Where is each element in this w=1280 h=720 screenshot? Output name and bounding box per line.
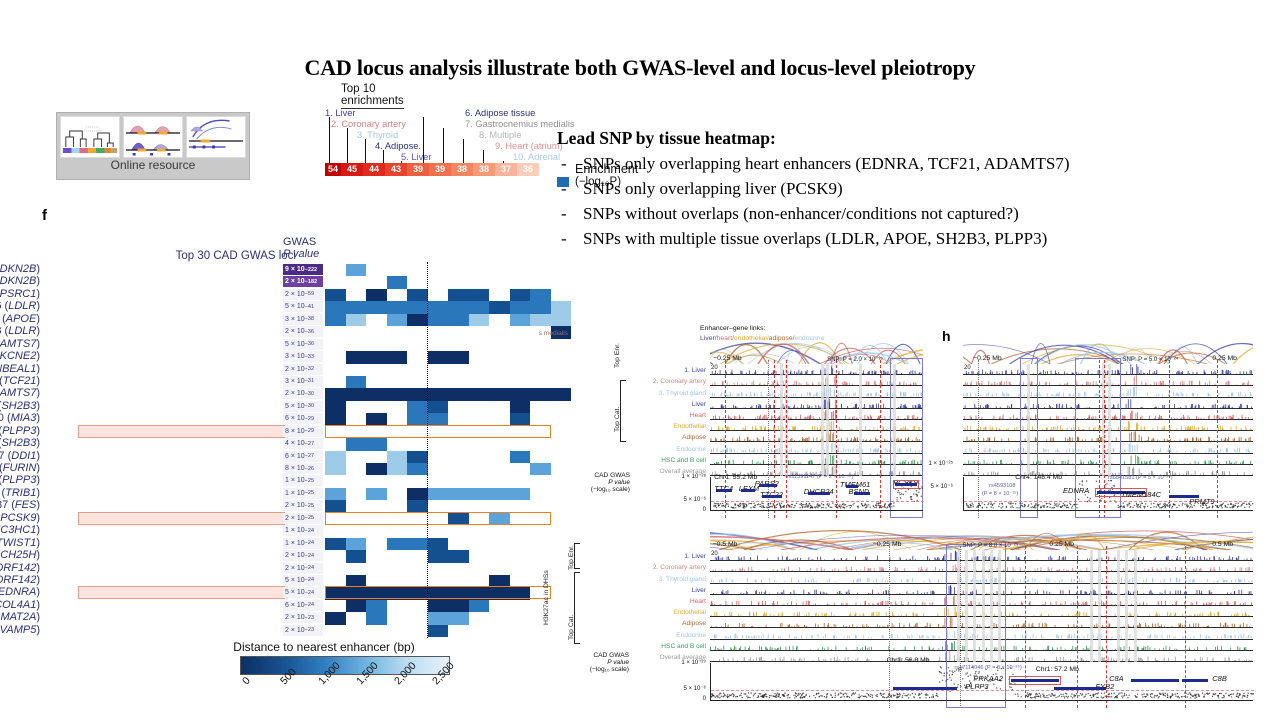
heatmap-cell: [407, 401, 428, 413]
cad-gwas-label-g1: CAD GWASP value(−log₁₀ scale): [560, 472, 630, 493]
heatmap-cell: [510, 289, 531, 301]
enrichment-name-list: 1. Liver2. Coronary artery3. Thyroid4. A…: [317, 102, 583, 162]
heatmap-cell: [325, 289, 346, 301]
enrichment-name-3: 3. Thyroid: [357, 130, 398, 140]
heatmap-pvalue-cell: 2 × 10−23: [283, 625, 323, 636]
heatmap-cell: [325, 451, 346, 463]
heatmap-cell: [325, 401, 346, 413]
heatmap-cell: [530, 463, 551, 475]
bullet-text: SNPs only overlapping heart enhancers (E…: [583, 154, 1070, 173]
heatmap-pvalue-cell: 3 × 10−33: [283, 351, 323, 362]
heatmap-cell-row: [325, 438, 571, 450]
heatmap-row-label: Chr7: 19,049,388 (TWIST1): [0, 537, 40, 549]
heatmap-cell: [428, 625, 449, 637]
bullet-item: -SNPs only overlapping liver (PCSK9): [557, 176, 1257, 201]
heatmap-cell-row: [325, 612, 571, 624]
heatmap-cell: [366, 600, 387, 612]
enhancer-shade: [780, 364, 783, 476]
link-tissue-heart: heart/: [717, 335, 734, 342]
heatmap-row-label: Chr13: 111,049,623 (COL4A1): [0, 599, 40, 611]
track-scale-max: 20: [711, 365, 718, 371]
ednra-ytick-2: 5 × 10⁻⁶: [905, 483, 953, 490]
heatmap-cell: [387, 463, 408, 475]
row-highlight: [78, 512, 285, 525]
heatmap-pvalue-cell: 3 × 10−38: [283, 314, 323, 325]
heatmap-row-label: Chr19: 11,202,306 (LDLR): [0, 300, 40, 312]
heatmap-pvalue-cell: 8 × 10−29: [283, 426, 323, 437]
rs-id-label: rs4593108: [989, 483, 1015, 489]
heatmap-cell: [346, 351, 408, 363]
enhancer-links-tissues: Liver/heart/endothelial/adipose/endocrin…: [700, 335, 824, 342]
gene-label-tmem184c: TMEM184C: [1121, 490, 1161, 499]
heatmap-row-label: Chr1: 56,966,350 (PLPP3): [0, 425, 40, 437]
bullet-dash: -: [561, 201, 567, 226]
mb-coordinate-label: −0.25 Mb: [973, 355, 1002, 362]
locus-center-coordinate: Chr1: 56.8 Mb: [886, 657, 929, 664]
rs-id-label: rs6841581 (P = 5 × 10⁻²⁴): [1108, 475, 1173, 481]
thumbnail-panes: [60, 116, 246, 158]
heatmap-loci-header: Top 30 CAD GWAS loci: [96, 250, 296, 262]
heatmap-pvalue-cell: 5 × 10−30: [283, 401, 323, 412]
snp-pvalue-label: SNP: P = 8.0 × 10⁻²⁹: [962, 542, 1018, 549]
heatmap-cell: [407, 488, 428, 500]
heatmap-row-label: Chr1: 56,996,191 (PLPP3): [0, 474, 40, 486]
gwas-header-line1: GWAS: [283, 236, 327, 248]
heatmap-row-label: Chr15: 91,416,550 (FURIN): [0, 462, 40, 474]
enrichment-name-2: 2. Coronary artery: [331, 119, 406, 129]
heatmap-pvalue-cell: 2 × 10−24: [283, 563, 323, 574]
heatmap-row-label: Chr7: 129,663,496 (ZC3HC1): [0, 524, 40, 536]
heatmap-cell-row: [325, 538, 571, 550]
track-label-endothelial: Endothelial: [630, 609, 706, 616]
mb-coordinate-label: −0.25 Mb: [873, 541, 902, 548]
track-label-liver: Liver: [630, 401, 706, 408]
enrichment-value: 36: [517, 163, 539, 176]
enrichment-value: 39: [407, 163, 429, 176]
heatmap-cell: [346, 550, 367, 562]
enrichment-tick: [443, 128, 444, 163]
track-scale-max: 20: [964, 365, 971, 371]
heatmap-cell: [346, 314, 367, 326]
heatmap-cell: [346, 538, 367, 550]
gene-model: [808, 492, 830, 495]
top-cat-bracket: [620, 380, 626, 442]
enrichment-name-4: 4. Adipose.: [375, 141, 421, 151]
right-text-block: Lead SNP by tissue heatmap: -SNPs only o…: [557, 128, 1257, 251]
enrichment-value: 54: [325, 163, 341, 176]
heatmap-pvalue-cell: 2 × 10−36: [283, 326, 323, 337]
heatmap-cell: [428, 314, 449, 326]
gene-model: [1131, 679, 1179, 682]
heatmap-cell: [325, 538, 346, 550]
gene-model-outline: [1009, 676, 1061, 685]
heatmap-cell-row: [325, 475, 571, 487]
heatmap-center-dashed-line: [427, 262, 428, 638]
enrichment-tick: [347, 128, 348, 163]
enhancer-shade: [1125, 550, 1128, 662]
enrichment-value: 45: [341, 163, 363, 176]
enrichment-name-9: 9. Heart (atrium): [495, 141, 563, 151]
gene-model: [854, 492, 870, 495]
right-text-heading: Lead SNP by tissue heatmap:: [557, 128, 1257, 149]
enrichment-tick: [365, 139, 366, 163]
enrichment-name-6: 6. Adipose tissue: [465, 108, 535, 118]
link-tissue-endocrine: endocrine: [795, 335, 825, 342]
bullet-text: SNPs only overlapping liver (PCSK9): [583, 179, 843, 198]
gastrocnemius-label-fragment: s medialis: [528, 330, 568, 337]
gene-label-plpp3: PLPP3: [965, 682, 988, 691]
heatmap-cell: [325, 314, 346, 326]
heatmap-cell: [346, 376, 367, 388]
heatmap-row-label: Chr10: 91,004,886 (CH25H): [0, 549, 40, 561]
heatmap-cell: [428, 538, 449, 550]
locus-panel-pcsk9: 1. Liver2. Coronary artery3. Thyroid gla…: [630, 340, 925, 510]
heatmap-cell-row: [325, 264, 571, 276]
heatmap-cell: [387, 538, 428, 550]
bullet-item: -SNPs only overlapping heart enhancers (…: [557, 151, 1257, 176]
cad-gwas-label-g2: CAD GWASP value(−log₁₀ scale): [545, 652, 629, 673]
heatmap-cell: [510, 401, 531, 413]
enrichment-name-8: 8. Multiple: [479, 130, 521, 140]
enrichment-name-10: 10. Adrenal: [513, 152, 560, 162]
enrichment-value: 43: [385, 163, 407, 176]
enrichment-value: 38: [473, 163, 495, 176]
gwas-ytick: 0: [630, 696, 706, 702]
enrichment-value: 44: [363, 163, 385, 176]
heatmap-cell-row: [325, 276, 571, 288]
colorbar-ticks: 05001,0001,5002,0002,500: [240, 675, 490, 715]
heatmap-row-label: Chr2: 203,968,973 (NBEAL1): [0, 363, 40, 375]
heatmap-cell-row: [325, 351, 571, 363]
colorbar-gradient: [240, 656, 450, 675]
enhancer-links-title: Enhancer–gene links:: [700, 325, 765, 332]
gwas-ytick: 1 × 10⁻²⁸: [630, 473, 706, 480]
heatmap-pvalue-cell: 1 × 10−25: [283, 475, 323, 486]
slide-root: CAD locus analysis illustrate both GWAS-…: [0, 0, 1280, 720]
heatmap-cell: [428, 612, 469, 624]
heatmap-row-label: Chr1: 55,505,647 (PCSK9): [0, 512, 40, 524]
heatmap-row-label: Chr10: 44,777,560 (C10ORF142): [0, 562, 40, 574]
gene-model: [1054, 687, 1106, 690]
heatmap-cell: [551, 301, 572, 313]
gene-label-ednra: EDNRA: [1063, 486, 1089, 495]
enhancer-shade: [1117, 550, 1120, 662]
link-tissue-endothelial: endothelial/: [734, 335, 769, 342]
track-label-1-liver: 1. Liver: [630, 553, 706, 560]
heatmap-row-label: Chr1: 222,829,550 (MIA3): [0, 412, 40, 424]
heatmap-pvalue-cell: 2 × 10−30: [283, 388, 323, 399]
heatmap-cell-row: [325, 451, 571, 463]
row-highlight: [78, 586, 285, 599]
heatmap-cell: [530, 314, 571, 326]
heatmap-pvalue-cell: 1 × 10−24: [283, 538, 323, 549]
track-label-endocrine: Endocrine: [630, 632, 706, 639]
thumbnail-pane-enhancer-peaks: [123, 116, 183, 158]
snp-pvalue-label: SNP: P = 2.0 × 10⁻²⁵: [827, 356, 883, 363]
heatmap-cell-row: [325, 388, 571, 400]
bullet-item: -SNPs without overlaps (non-enhancer/con…: [557, 201, 1257, 226]
heatmap-row-label: Chr9: 22,125,503 (CDKN2B): [0, 275, 40, 287]
track-label-heart: Heart: [630, 412, 706, 419]
top-enr-bracket-bottom: [574, 543, 580, 569]
heatmap-cell-row: [325, 463, 571, 475]
heatmap-row-label: Chr8: 126,490,972 (TRIB1): [0, 487, 40, 499]
heatmap-row-label: Chr6: 134,209,837 (TCF21): [0, 375, 40, 387]
row-orange-outline: [325, 586, 551, 599]
bullet-text: SNPs with multiple tissue overlaps (LDLR…: [583, 229, 1047, 248]
heatmap-pvalue-cell: 1 × 10−24: [283, 525, 323, 536]
heatmap-pvalue-cell: 2 × 10−25: [283, 513, 323, 524]
gene-label-c8b: C8B: [1212, 674, 1227, 683]
enhancer-shade: [859, 364, 862, 476]
mb-coordinate-label: 0.5 Mb: [1212, 541, 1233, 548]
heatmap-cell-row: [325, 600, 571, 612]
heatmap-cell: [325, 388, 571, 400]
page-title: CAD locus analysis illustrate both GWAS-…: [0, 55, 1280, 81]
heatmap-row-label: Chr1: 109,821,511 (PSRC1): [0, 288, 40, 300]
track-label-endothelial: Endothelial: [630, 423, 706, 430]
heatmap-cell: [428, 351, 469, 363]
track-label-hsc-and-b-cell: HSC and B cell: [630, 457, 706, 464]
heatmap-cell-row: [325, 376, 571, 388]
heatmap-cell-row: [325, 550, 571, 562]
heatmap-cell: [366, 289, 387, 301]
track-label-3-thyroid-gland: 3. Thyroid gland: [630, 390, 706, 397]
heatmap-cell-row: [325, 625, 571, 637]
mb-coordinate-label: −0.5 Mb: [713, 541, 738, 548]
heatmap-cell: [510, 451, 531, 463]
heatmap-pvalue-cell: 5 × 10−36: [283, 339, 323, 350]
heatmap-cell: [407, 314, 428, 326]
track-label-2-coronary-artery: 2. Coronary artery: [630, 564, 706, 571]
enhancer-shade: [1134, 550, 1137, 662]
locus-center-coordinate: Chr1: 57.2 Mb: [1036, 666, 1079, 673]
heatmap-pvalue-cell: 1 × 10−25: [283, 488, 323, 499]
heatmap-cell: [448, 314, 469, 326]
heatmap-cell: [325, 463, 346, 475]
heatmap-cell: [407, 289, 428, 301]
heatmap-cell-row: [325, 364, 571, 376]
heatmap-row-label: Chr21: 35,593,827 (KCNE2): [0, 350, 40, 362]
h3k27ac-axis-label: H3K27ac in DHSs: [543, 570, 550, 625]
enrichment-value: 37: [495, 163, 517, 176]
heatmap-row-label: Chr12: 111,932,800 (SH2B3): [0, 437, 40, 449]
heatmap-cell-row: [325, 563, 571, 575]
enrichment-tick: [463, 139, 464, 163]
gwas-ytick: 5 × 10⁻⁶: [630, 496, 706, 503]
heatmap-pvalue-cell: 3 × 10−31: [283, 376, 323, 387]
enrichment-value: 39: [429, 163, 451, 176]
heatmap-cell-row: [325, 401, 571, 413]
online-resource-thumbnail: Online resource: [56, 112, 250, 180]
enhancer-shade: [826, 364, 829, 476]
heatmap-pvalue-cell: 9 × 10−222: [283, 264, 323, 275]
heatmap-cell: [387, 314, 408, 326]
panel-f-label: f: [42, 207, 47, 224]
track-label-liver: Liver: [630, 587, 706, 594]
thumbnail-pane-arcs: [186, 116, 246, 158]
gene-model: [759, 484, 777, 487]
heatmap-cell: [428, 550, 469, 562]
heatmap-cell-row: [325, 314, 571, 326]
bullet-dash: -: [561, 226, 567, 251]
heatmap-cell: [366, 612, 387, 624]
heatmap-pvalue-cell: 5 × 10−24: [283, 575, 323, 586]
heatmap-cell-row: [325, 289, 571, 301]
heatmap-pvalue-cell: 4 × 10−27: [283, 438, 323, 449]
top-enr-group-label-top: Top Enr.: [614, 343, 621, 368]
locus-panel-ednra: −0.25 Mb0.25 MbSNP: P = 5.0 × 10⁻²⁴20 ED…: [955, 340, 1255, 510]
heatmap-cell: [489, 301, 510, 313]
snp-pvalue-label: SNP: P = 5.0 × 10⁻²⁴: [1123, 356, 1179, 363]
gene-label-prmt9: PRMT9: [1189, 497, 1214, 506]
heatmap-cell: [325, 612, 346, 624]
gwas-ytick: 0: [630, 507, 706, 513]
heatmap-cell-row: [325, 525, 571, 537]
heatmap-row-label: Chr19: 11,188,153 (LDLR): [0, 325, 40, 337]
top-cat-bracket-bottom: [574, 572, 580, 644]
enrichment-tick: [383, 150, 384, 163]
enhancer-shade: [821, 364, 824, 476]
heatmap-cell: [346, 264, 367, 276]
bullet-text: SNPs without overlaps (non-enhancer/cond…: [583, 204, 1019, 223]
heatmap-pvalue-cell: 2 × 10−23: [283, 612, 323, 623]
heatmap-cell: [407, 463, 428, 475]
heatmap-pvalue-cell: 2 × 10−182: [283, 276, 323, 287]
track-label-heart: Heart: [630, 598, 706, 605]
heatmap-row-label: Chr19: 45,412,079 (APOE): [0, 313, 40, 325]
gwas-ytick: 1 × 10⁻²⁹: [630, 659, 706, 666]
enhancer-shade: [1090, 550, 1093, 662]
enrichment-value-bar: 54454443393938383736: [325, 163, 539, 176]
bullet-dash: -: [561, 176, 567, 201]
track-label-3-thyroid-gland: 3. Thyroid gland: [630, 576, 706, 583]
row-highlight: [78, 425, 285, 438]
locus-center-coordinate: Chr4: 148.4 Mb: [1015, 474, 1062, 481]
heatmap-row-label: Chr2: 85,763,520 (MAT2A): [0, 611, 40, 623]
rs-id-label: rs17114046 (P = 8 × 10⁻²⁹): [954, 665, 1021, 671]
heatmap-cell: [448, 289, 489, 301]
heatmap-row-label: Chr9: 22,098,574 (CDKN2B): [0, 263, 40, 275]
heatmap-cell: [366, 488, 387, 500]
heatmap-pvalue-cell: 6 × 10−27: [283, 451, 323, 462]
bullet-item: -SNPs with multiple tissue overlaps (LDL…: [557, 226, 1257, 251]
heatmap-cell-row: [325, 301, 571, 313]
enhancer-shade: [1098, 550, 1101, 662]
heatmap-pvalue-cell: 2 × 10−59: [283, 289, 323, 300]
ednra-ytick-1: 1 × 10⁻²⁵: [905, 460, 953, 467]
gwas-header-line2: P value: [283, 248, 327, 260]
enrichment-name-5: 5. Liver: [401, 152, 432, 162]
heatmap-pvalue-cell: 2 × 10−25: [283, 500, 323, 511]
heatmap-row-label: Chr11: 103,673,277 (DDI1): [0, 450, 40, 462]
heatmap-cell: [510, 301, 551, 313]
track-label-endocrine: Endocrine: [630, 446, 706, 453]
enrichment-tick: [329, 117, 330, 163]
link-tissue-adipose: adipose/: [769, 335, 795, 342]
heatmap-cell: [428, 401, 449, 413]
mb-coordinate-label: −0.25 Mb: [713, 355, 742, 362]
heatmap-cell: [325, 301, 489, 313]
track-label-2-coronary-artery: 2. Coronary artery: [630, 378, 706, 385]
heatmap-cell: [510, 488, 531, 500]
heatmap-pvalue-cell: 2 × 10−32: [283, 364, 323, 375]
right-text-bullets: -SNPs only overlapping heart enhancers (…: [557, 151, 1257, 251]
bullet-dash: -: [561, 151, 567, 176]
track-label-hsc-and-b-cell: HSC and B cell: [630, 643, 706, 650]
heatmap-cell: [469, 314, 490, 326]
enrichment-tick: [423, 117, 424, 163]
heatmap-cell: [407, 451, 428, 463]
heatmap-row-label: Chr12: 111,884,608 (SH2B3): [0, 400, 40, 412]
row-orange-outline: [325, 425, 551, 438]
colorbar-tick: 0: [240, 675, 253, 687]
gene-model: [893, 687, 957, 690]
heatmap-cell: [530, 289, 551, 301]
locus-panel-plpp3: 1. Liver2. Coronary artery3. Thyroid gla…: [630, 528, 1255, 708]
mb-coordinate-label: 0.25 Mb: [1049, 541, 1074, 548]
heatmap-row-label: Chr15: 79,117,133 (ADAMTS7): [0, 387, 40, 399]
link-tissue-liver: Liver/: [700, 335, 717, 342]
gene-model: [741, 489, 755, 492]
heatmap-cell-row: [325, 339, 571, 351]
heatmap-cell: [346, 438, 387, 450]
heatmap-cell: [510, 314, 531, 326]
gene-model: [1182, 679, 1208, 682]
heatmap-gwas-header: GWAS P value: [283, 236, 327, 260]
track-scale-max: 20: [711, 551, 718, 557]
panel-h-label: h: [942, 328, 951, 344]
heatmap-cell: [346, 600, 367, 612]
locus-center-coordinate: Chr1: 55.2 Mb: [714, 474, 757, 481]
heatmap-cell-row: [325, 488, 571, 500]
row-orange-outline: [325, 512, 551, 525]
heatmap-pvalue-cell: 8 × 10−26: [283, 463, 323, 474]
enrichment-tick: [483, 150, 484, 163]
heatmap-cell: [387, 276, 408, 288]
heatmap-row-label: Chr2: 85,809,989 (VAMP5): [0, 624, 40, 636]
heatmap-cell: [325, 488, 346, 500]
heatmap-row-label: Chr15: 79,141,784 (ADAMTS7): [0, 338, 40, 350]
heatmap-pvalue-cell: 6 × 10−24: [283, 600, 323, 611]
thumbnail-pane-tree: [60, 116, 120, 158]
gene-model: [716, 489, 732, 492]
track-label-adipose: Adipose: [630, 434, 706, 441]
heatmap-pvalue-cell: 5 × 10−24: [283, 587, 323, 598]
heatmap-row-label: Chr10: 44,496,971 (C10ORF142): [0, 574, 40, 586]
track-label-1-liver: 1. Liver: [630, 367, 706, 374]
rs-id-label: rs11591147 (P = 2 × 10⁻²⁵): [787, 474, 854, 480]
heatmap-cell: [469, 600, 490, 612]
heatmap-pvalue-cell: 2 × 10−24: [283, 550, 323, 561]
heatmap-pvalue-cell: 6 × 10−29: [283, 413, 323, 424]
gene-model: [762, 495, 782, 498]
gwas-ytick: 5 × 10⁻⁶: [630, 685, 706, 692]
thumbnail-caption: Online resource: [57, 158, 249, 172]
heatmap-pvalue-cell: 5 × 10−41: [283, 301, 323, 312]
enrichment-value: 38: [451, 163, 473, 176]
mb-coordinate-label: 0.25 Mb: [1212, 355, 1237, 362]
track-label-adipose: Adipose: [630, 620, 706, 627]
rs-id-label: (P = 8 × 10⁻¹⁵): [982, 491, 1019, 497]
heatmap-row-label: Chr4: 148,401,190 (EDNRA): [0, 586, 40, 598]
colorbar-title: Distance to nearest enhancer (bp): [218, 640, 430, 654]
heatmap-row-label: Chr15: 91,429,287 (FES): [0, 499, 40, 511]
distance-colorbar: Distance to nearest enhancer (bp) 05001,…: [218, 640, 490, 715]
